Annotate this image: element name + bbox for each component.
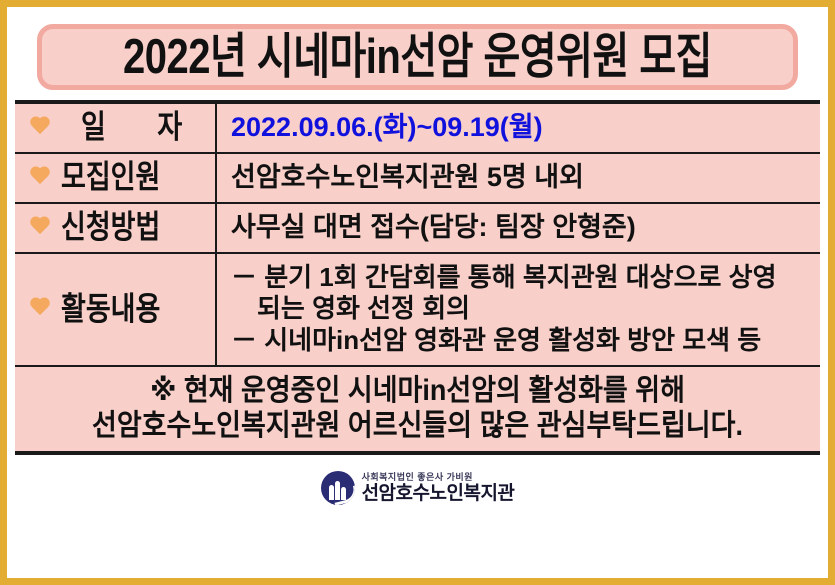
row-value-cell-activity: － 분기 1회 간담회를 통해 복지관원 대상으로 상영 되는 영화 선정 회의… — [216, 253, 820, 366]
activity-line-1: － 분기 1회 간담회를 통해 복지관원 대상으로 상영 — [231, 262, 820, 294]
activity-line-2: 되는 영화 선정 회의 — [231, 293, 820, 325]
organization-logo: 사회복지법인 좋은사 가비원 선암호수노인복지관 — [7, 471, 828, 505]
poster-title-banner: 2022년 시네마in선암 운영위원 모집 — [37, 24, 798, 90]
row-label-headcount: 모집인원 — [61, 162, 160, 194]
row-label-cell-date: 일 자 — [15, 104, 216, 153]
table-row: 활동내용 － 분기 1회 간담회를 통해 복지관원 대상으로 상영 되는 영화 … — [15, 253, 820, 366]
notice-line-1: ※ 현재 운영중인 시네마in선암의 활성화를 위해 — [15, 371, 820, 410]
row-label-date: 일 자 — [61, 112, 204, 144]
row-label-cell-headcount: 모집인원 — [15, 153, 216, 203]
heart-icon — [29, 217, 51, 239]
heart-icon — [29, 117, 51, 139]
heart-icon — [29, 167, 51, 189]
table-row: 신청방법 사무실 대면 접수(담당: 팀장 안형준) — [15, 203, 820, 253]
info-table-container: 일 자 2022.09.06.(화)~09.19(월) 모집인원 — [15, 100, 820, 455]
row-value-headcount: 선암호수노인복지관원 5명 내외 — [231, 162, 820, 194]
row-value-cell-date: 2022.09.06.(화)~09.19(월) — [216, 104, 820, 153]
info-table: 일 자 2022.09.06.(화)~09.19(월) 모집인원 — [15, 104, 820, 451]
poster-frame: 2022년 시네마in선암 운영위원 모집 일 자 2022.09.06.(화)… — [0, 0, 835, 585]
table-row: 일 자 2022.09.06.(화)~09.19(월) — [15, 104, 820, 153]
row-label-howto: 신청방법 — [61, 212, 160, 244]
notice-cell: ※ 현재 운영중인 시네마in선암의 활성화를 위해 선암호수노인복지관원 어르… — [15, 366, 820, 451]
notice-line-2: 선암호수노인복지관원 어르신들의 많은 관심부탁드립니다. — [15, 406, 820, 445]
row-label-cell-activity: 활동내용 — [15, 253, 216, 366]
row-value-howto: 사무실 대면 접수(담당: 팀장 안형준) — [231, 212, 820, 244]
logo-tagline: 사회복지법인 좋은사 가비원 — [362, 473, 473, 482]
table-row: 모집인원 선암호수노인복지관원 5명 내외 — [15, 153, 820, 203]
row-value-date: 2022.09.06.(화)~09.19(월) — [231, 112, 820, 144]
logo-name: 선암호수노인복지관 — [362, 484, 515, 503]
row-value-cell-headcount: 선암호수노인복지관원 5명 내외 — [216, 153, 820, 203]
row-value-cell-howto: 사무실 대면 접수(담당: 팀장 안형준) — [216, 203, 820, 253]
table-row-notice: ※ 현재 운영중인 시네마in선암의 활성화를 위해 선암호수노인복지관원 어르… — [15, 366, 820, 451]
activity-line-3: － 시네마in선암 영화관 운영 활성화 방안 모색 등 — [231, 325, 820, 357]
page-title: 2022년 시네마in선암 운영위원 모집 — [123, 33, 712, 82]
row-label-cell-howto: 신청방법 — [15, 203, 216, 253]
heart-icon — [29, 298, 51, 320]
row-label-activity: 활동내용 — [61, 293, 160, 325]
logo-text-block: 사회복지법인 좋은사 가비원 선암호수노인복지관 — [362, 473, 515, 503]
sunamho-logo-icon — [321, 471, 355, 505]
